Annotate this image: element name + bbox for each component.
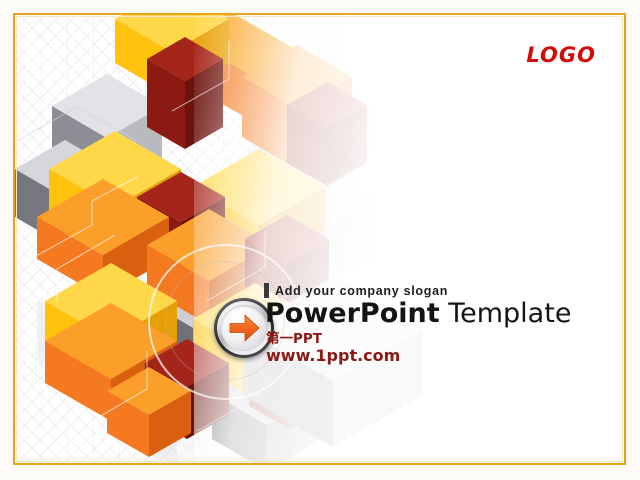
title-light-part: Template	[440, 298, 572, 329]
page-title: PowerPoint Template	[265, 299, 571, 329]
slide-canvas: Add your company slogan PowerPoint Templ…	[15, 15, 624, 463]
arrow-right-icon	[221, 305, 267, 351]
slogan-row: Add your company slogan	[264, 283, 571, 298]
company-slogan: Add your company slogan	[275, 284, 448, 298]
slogan-bar-marker-icon	[264, 283, 269, 298]
logo-placeholder[interactable]: LOGO	[526, 43, 596, 67]
title-text-block: Add your company slogan PowerPoint Templ…	[264, 283, 571, 366]
brand-website-url[interactable]: www.1ppt.com	[266, 347, 571, 366]
title-strong-part: PowerPoint	[265, 298, 440, 329]
brand-name-cn: 第一PPT	[266, 332, 571, 347]
presentation-slide: Add your company slogan PowerPoint Templ…	[0, 0, 640, 480]
